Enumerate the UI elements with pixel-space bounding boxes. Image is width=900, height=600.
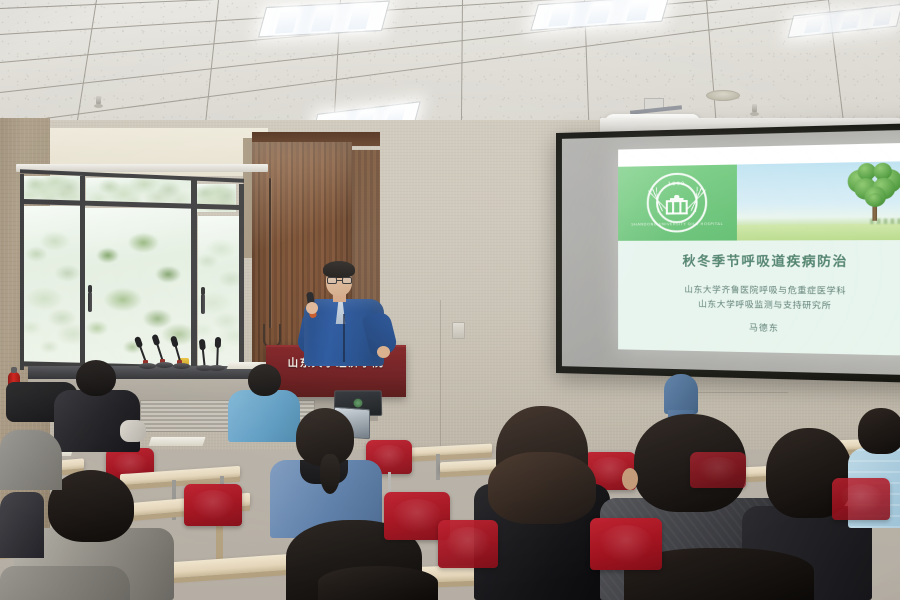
attendee — [270, 408, 382, 538]
attendee-shoulder — [0, 430, 62, 490]
laptop-logo — [353, 399, 362, 408]
slide-photo-panel — [737, 161, 900, 240]
chair[interactable] — [438, 520, 498, 568]
attendee-ponytail — [320, 454, 340, 494]
air-vent-icon — [706, 90, 740, 101]
presenter-hand-left — [306, 302, 318, 314]
projection-screen: 1890 — [556, 123, 900, 383]
presenter-glasses — [327, 277, 352, 284]
presenter-jacket-zipper — [343, 314, 345, 362]
microphone-icon[interactable] — [172, 340, 190, 368]
tree-crown — [845, 161, 900, 211]
attendee-ear — [622, 468, 638, 490]
window-sash-left[interactable] — [24, 206, 80, 366]
attendee-sleeve — [120, 420, 146, 442]
seal-arc-text: SHANDONG UNIVERSITY QILU HOSPITAL — [631, 222, 723, 227]
hanging-cable — [269, 178, 271, 328]
microphone-icon[interactable] — [208, 342, 224, 370]
attendee-head — [858, 408, 900, 454]
slide-subtitle-line-2: 山东大学呼吸监测与支持研究所 — [618, 296, 900, 314]
chair[interactable] — [832, 478, 890, 520]
presenter-hand-right — [377, 346, 390, 358]
heart-tree-icon — [823, 161, 900, 228]
slide-logo-panel: 1890 — [618, 164, 737, 240]
slide-header-band: 1890 — [618, 161, 900, 241]
slide-subtitle: 山东大学齐鲁医院呼吸与危重症医学科 山东大学呼吸监测与支持研究所 — [618, 281, 900, 314]
microphone-icon[interactable] — [155, 338, 173, 368]
attendee-shoulder — [0, 566, 130, 600]
seal-gate-motif — [666, 195, 688, 215]
chair[interactable] — [590, 518, 662, 570]
window-handle[interactable] — [88, 292, 92, 312]
attendee — [318, 566, 438, 600]
attendee — [474, 406, 610, 600]
screen-surface: 1890 — [562, 130, 900, 376]
attendee-head — [318, 566, 438, 600]
presenter — [296, 258, 392, 366]
chair[interactable] — [184, 484, 242, 526]
sprinkler-icon — [752, 104, 757, 113]
window-frame-mullion — [239, 184, 244, 368]
attendee — [54, 360, 140, 452]
attendee — [0, 492, 44, 558]
chair[interactable] — [690, 452, 746, 488]
presentation-slide: 1890 — [618, 143, 900, 356]
sprinkler-icon — [96, 96, 101, 105]
paper-stack — [149, 437, 206, 446]
attendee-torso — [664, 374, 698, 414]
presenter-hair — [323, 261, 355, 278]
attendee-hair-wave — [488, 452, 596, 524]
attendee-head — [248, 364, 281, 396]
university-seal-icon: 1890 — [647, 173, 707, 233]
lecture-hall-photo: 1890 — [0, 0, 900, 600]
light-switch-plate[interactable] — [452, 322, 465, 339]
wall-panel-seam — [440, 300, 441, 450]
attendee-head — [76, 360, 116, 396]
slide-title: 秋冬季节呼吸道疾病防治 — [618, 249, 900, 270]
window-handle[interactable] — [201, 294, 205, 314]
slide-author: 马德东 — [618, 319, 900, 336]
window-transom-glass — [22, 176, 82, 202]
